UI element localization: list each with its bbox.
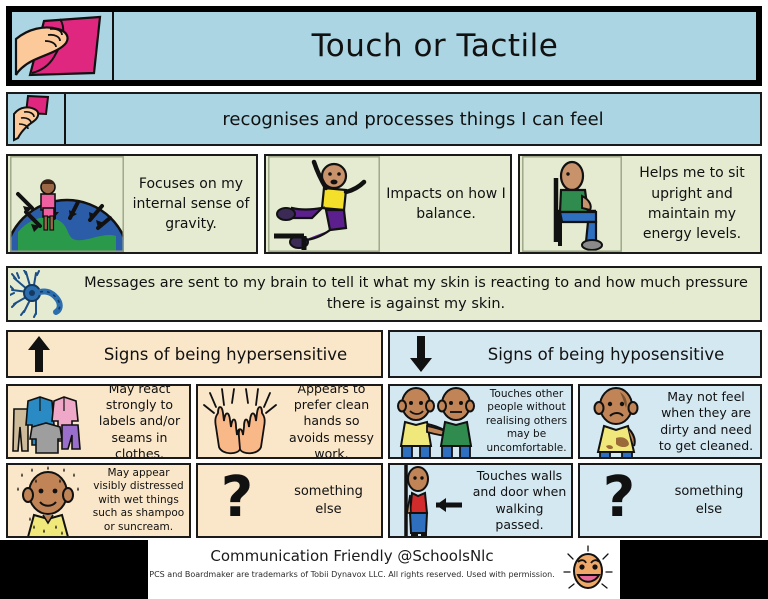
title-bar: Touch or Tactile bbox=[6, 6, 762, 86]
distressed-wet-person-icon bbox=[8, 465, 88, 536]
hypo-cell-touching-walls: Touches walls and door when walking pass… bbox=[388, 463, 573, 538]
feature-text-balance: Impacts on how I balance. bbox=[382, 184, 510, 225]
hyper-cell-wet-distress: May appear visibly distressed with wet t… bbox=[6, 463, 191, 538]
hyper-cell-text-wet-distress: May appear visibly distressed with wet t… bbox=[88, 467, 189, 534]
neuron-icon bbox=[8, 268, 72, 320]
two-people-touching-icon bbox=[390, 386, 482, 457]
hypersensitive-heading: Signs of being hypersensitive bbox=[70, 345, 381, 364]
question-mark-icon: ? bbox=[198, 465, 276, 536]
hypo-cell-text-touching-walls: Touches walls and door when walking pass… bbox=[468, 468, 571, 533]
hypo-cell-text-something-else: something else bbox=[658, 483, 760, 518]
footer-bar: Communication Friendly @SchoolsNlc PCS a… bbox=[0, 540, 768, 599]
footer-trademark-notice: PCS and Boardmaker are trademarks of Tob… bbox=[148, 570, 556, 579]
hyper-cell-text-clothes: May react strongly to labels and/or seam… bbox=[90, 384, 189, 459]
hypo-cell-touching-people: Touches other people without realising o… bbox=[388, 384, 573, 459]
hypo-cell-something-else: ? something else bbox=[578, 463, 762, 538]
person-on-earth-gravity-arrows-icon bbox=[8, 156, 126, 252]
person-touching-wall-icon bbox=[390, 465, 468, 536]
feature-panel-balance: Impacts on how I balance. bbox=[264, 154, 512, 254]
message-bar: Messages are sent to my brain to tell it… bbox=[6, 266, 762, 322]
svg-text:?: ? bbox=[221, 466, 253, 530]
feature-panel-gravity: Focuses on my internal sense of gravity. bbox=[6, 154, 258, 254]
dirty-child-icon bbox=[580, 386, 652, 457]
footer-text-wrap: Communication Friendly @SchoolsNlc PCS a… bbox=[148, 540, 556, 579]
subtitle-text: recognises and processes things I can fe… bbox=[66, 109, 760, 130]
subtitle-bar: recognises and processes things I can fe… bbox=[6, 92, 762, 146]
clean-hands-icon bbox=[198, 386, 282, 457]
hyper-cell-text-clean-hands: Appears to prefer clean hands so avoids … bbox=[282, 384, 381, 459]
happy-face-icon bbox=[556, 540, 620, 599]
hyper-cell-text-something-else: something else bbox=[276, 483, 381, 518]
hypersensitive-header: Signs of being hypersensitive bbox=[6, 330, 383, 378]
footer-content: Communication Friendly @SchoolsNlc PCS a… bbox=[148, 540, 620, 599]
feature-panel-sitting: Helps me to sit upright and maintain my … bbox=[518, 154, 762, 254]
person-sitting-on-chair-icon bbox=[520, 156, 624, 252]
arrow-up-icon bbox=[8, 334, 70, 374]
hyper-cell-clothes: May react strongly to labels and/or seam… bbox=[6, 384, 191, 459]
hypo-cell-text-touching-people: Touches other people without realising o… bbox=[482, 388, 571, 455]
hyposensitive-heading: Signs of being hyposensitive bbox=[452, 345, 760, 364]
hyper-cell-clean-hands: Appears to prefer clean hands so avoids … bbox=[196, 384, 383, 459]
poster-sheet: Touch or Tactile recognises and processe… bbox=[0, 0, 768, 599]
clothes-garments-icon bbox=[8, 386, 90, 457]
person-falling-balance-icon bbox=[266, 156, 382, 252]
footer-credit: Communication Friendly @SchoolsNlc bbox=[148, 547, 556, 565]
feature-text-gravity: Focuses on my internal sense of gravity. bbox=[126, 174, 256, 235]
feature-text-sitting: Helps me to sit upright and maintain my … bbox=[624, 163, 760, 244]
message-text: Messages are sent to my brain to tell it… bbox=[72, 273, 760, 315]
hypo-cell-dirty: May not feel when they are dirty and nee… bbox=[578, 384, 762, 459]
question-mark-icon: ? bbox=[580, 465, 658, 536]
hand-touching-fabric-icon bbox=[12, 12, 114, 80]
hyper-cell-something-else: ? something else bbox=[196, 463, 383, 538]
hyposensitive-header: Signs of being hyposensitive bbox=[388, 330, 762, 378]
svg-text:?: ? bbox=[603, 466, 635, 530]
finger-pressing-sponge-icon bbox=[8, 94, 66, 144]
arrow-down-icon bbox=[390, 334, 452, 374]
page-title: Touch or Tactile bbox=[114, 28, 756, 64]
hypo-cell-text-dirty: May not feel when they are dirty and nee… bbox=[652, 389, 760, 454]
